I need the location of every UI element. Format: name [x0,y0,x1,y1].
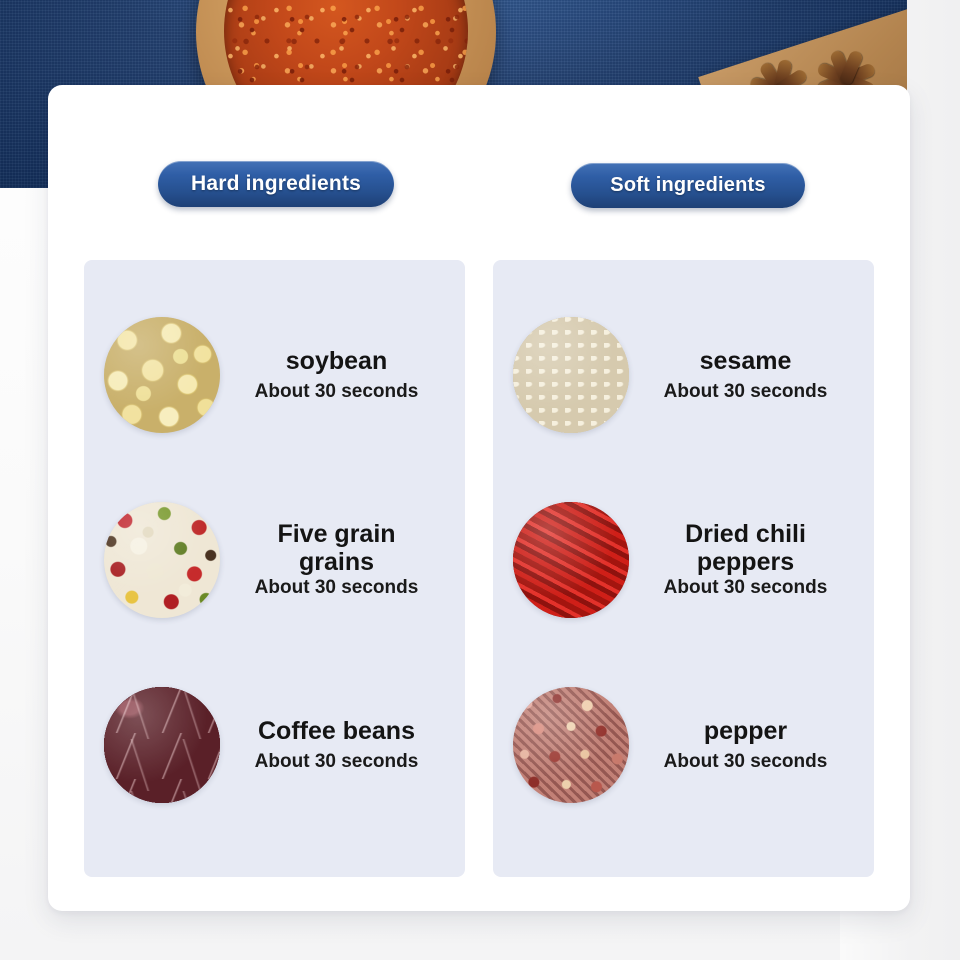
ingredient-panels: soybean About 30 seconds Five grain grai… [84,260,874,877]
sesame-photo [513,317,629,433]
list-item-text: Dried chili peppers About 30 seconds [629,520,866,599]
list-item[interactable]: Coffee beans About 30 seconds [84,652,465,837]
ingredient-name: Five grain grains [254,520,419,576]
thumb-sheen [513,502,629,618]
thumb-sheen [104,317,220,433]
dried-chili-peppers-photo [513,502,629,618]
ingredient-time: About 30 seconds [222,577,451,599]
tab-hard-ingredients-label: Hard ingredients [191,172,361,196]
list-item[interactable]: Five grain grains About 30 seconds [84,467,465,652]
list-item-text: Five grain grains About 30 seconds [220,520,457,599]
ingredient-name: soybean [222,347,451,375]
list-item-text: soybean About 30 seconds [220,347,457,403]
list-item[interactable]: soybean About 30 seconds [84,282,465,467]
five-grain-photo [104,502,220,618]
thumb-sheen [104,502,220,618]
ingredient-time: About 30 seconds [222,381,451,403]
ingredient-time: About 30 seconds [631,751,860,773]
ingredient-time: About 30 seconds [222,751,451,773]
ingredient-name: pepper [631,717,860,745]
ingredient-time: About 30 seconds [631,577,860,599]
hard-ingredients-panel: soybean About 30 seconds Five grain grai… [84,260,465,877]
coffee-beans-photo [104,687,220,803]
content-card: Hard ingredients Soft ingredients soybea… [48,85,910,911]
tab-hard-ingredients[interactable]: Hard ingredients [158,161,394,207]
tab-bar: Hard ingredients Soft ingredients [48,85,910,275]
thumb-sheen [104,687,220,803]
list-item-text: sesame About 30 seconds [629,347,866,403]
sichuan-pepper-photo [513,687,629,803]
tab-soft-ingredients[interactable]: Soft ingredients [571,163,805,208]
thumb-sheen [513,317,629,433]
ingredient-name: Dried chili peppers [658,520,833,576]
tab-soft-ingredients-label: Soft ingredients [610,174,765,197]
ingredient-name: sesame [631,347,860,375]
ingredient-name: Coffee beans [222,717,451,745]
list-item[interactable]: sesame About 30 seconds [493,282,874,467]
list-item-text: pepper About 30 seconds [629,717,866,773]
soft-ingredients-panel: sesame About 30 seconds Dried chili pepp… [493,260,874,877]
soybean-photo [104,317,220,433]
ingredient-time: About 30 seconds [631,381,860,403]
list-item-text: Coffee beans About 30 seconds [220,717,457,773]
product-infographic-screen: Hard ingredients Soft ingredients soybea… [0,0,960,960]
list-item[interactable]: pepper About 30 seconds [493,652,874,837]
list-item[interactable]: Dried chili peppers About 30 seconds [493,467,874,652]
thumb-sheen [513,687,629,803]
